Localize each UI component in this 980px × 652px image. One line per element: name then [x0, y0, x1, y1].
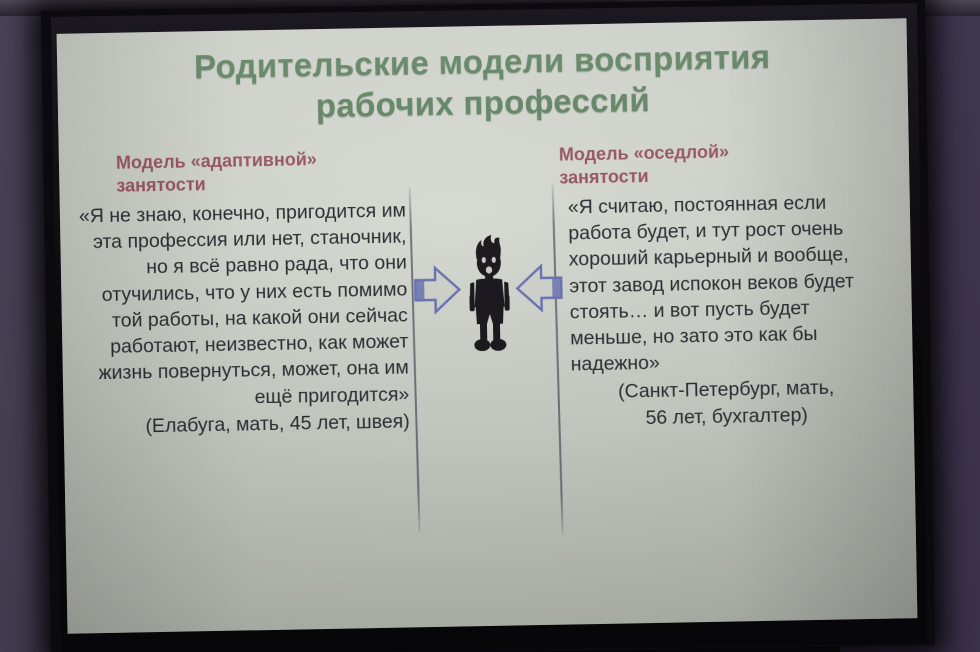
arrow-pointing-left — [517, 266, 562, 311]
slide-title-line-1: Родительские модели восприятия — [194, 38, 771, 86]
right-column-attribution-line-1: (Санкт-Петербург, мать, — [571, 374, 871, 406]
photo-of-projected-slide: Родительские модели восприятия рабочих п… — [0, 0, 980, 652]
right-column-attribution-line-2: 56 лет, бухгалтер) — [571, 401, 871, 433]
left-column-quote-text: «Я не знаю, конечно, пригодится им эта п… — [66, 197, 410, 413]
slide-title: Родительские модели восприятия рабочих п… — [57, 34, 908, 131]
right-column-heading: Модель «оседлой» занятости — [559, 138, 860, 190]
right-column-heading-line-2: занятости — [559, 166, 649, 188]
right-column-quote-block: «Я считаю, постоянная если работа будет,… — [568, 189, 872, 432]
center-graphic — [412, 235, 564, 358]
slide-content: Родительские модели восприятия рабочих п… — [57, 18, 918, 633]
left-column-attribution: (Елабуга, мать, 45 лет, швея) — [70, 408, 410, 440]
presentation-slide: Родительские модели восприятия рабочих п… — [57, 18, 918, 633]
right-column-quote-text: «Я считаю, постоянная если работа будет,… — [568, 189, 871, 378]
left-column-quote-block: «Я не знаю, конечно, пригодится им эта п… — [66, 197, 410, 440]
left-column-heading-line-2: занятости — [116, 175, 206, 197]
left-column-heading: Модель «адаптивной» занятости — [116, 146, 407, 198]
child-silhouette-icon — [459, 234, 519, 353]
arrow-pointing-right — [415, 268, 460, 313]
slide-title-line-2: рабочих профессий — [58, 75, 909, 131]
left-column-heading-line-1: Модель «адаптивной» — [116, 149, 317, 173]
right-column-heading-line-1: Модель «оседлой» — [559, 142, 730, 165]
